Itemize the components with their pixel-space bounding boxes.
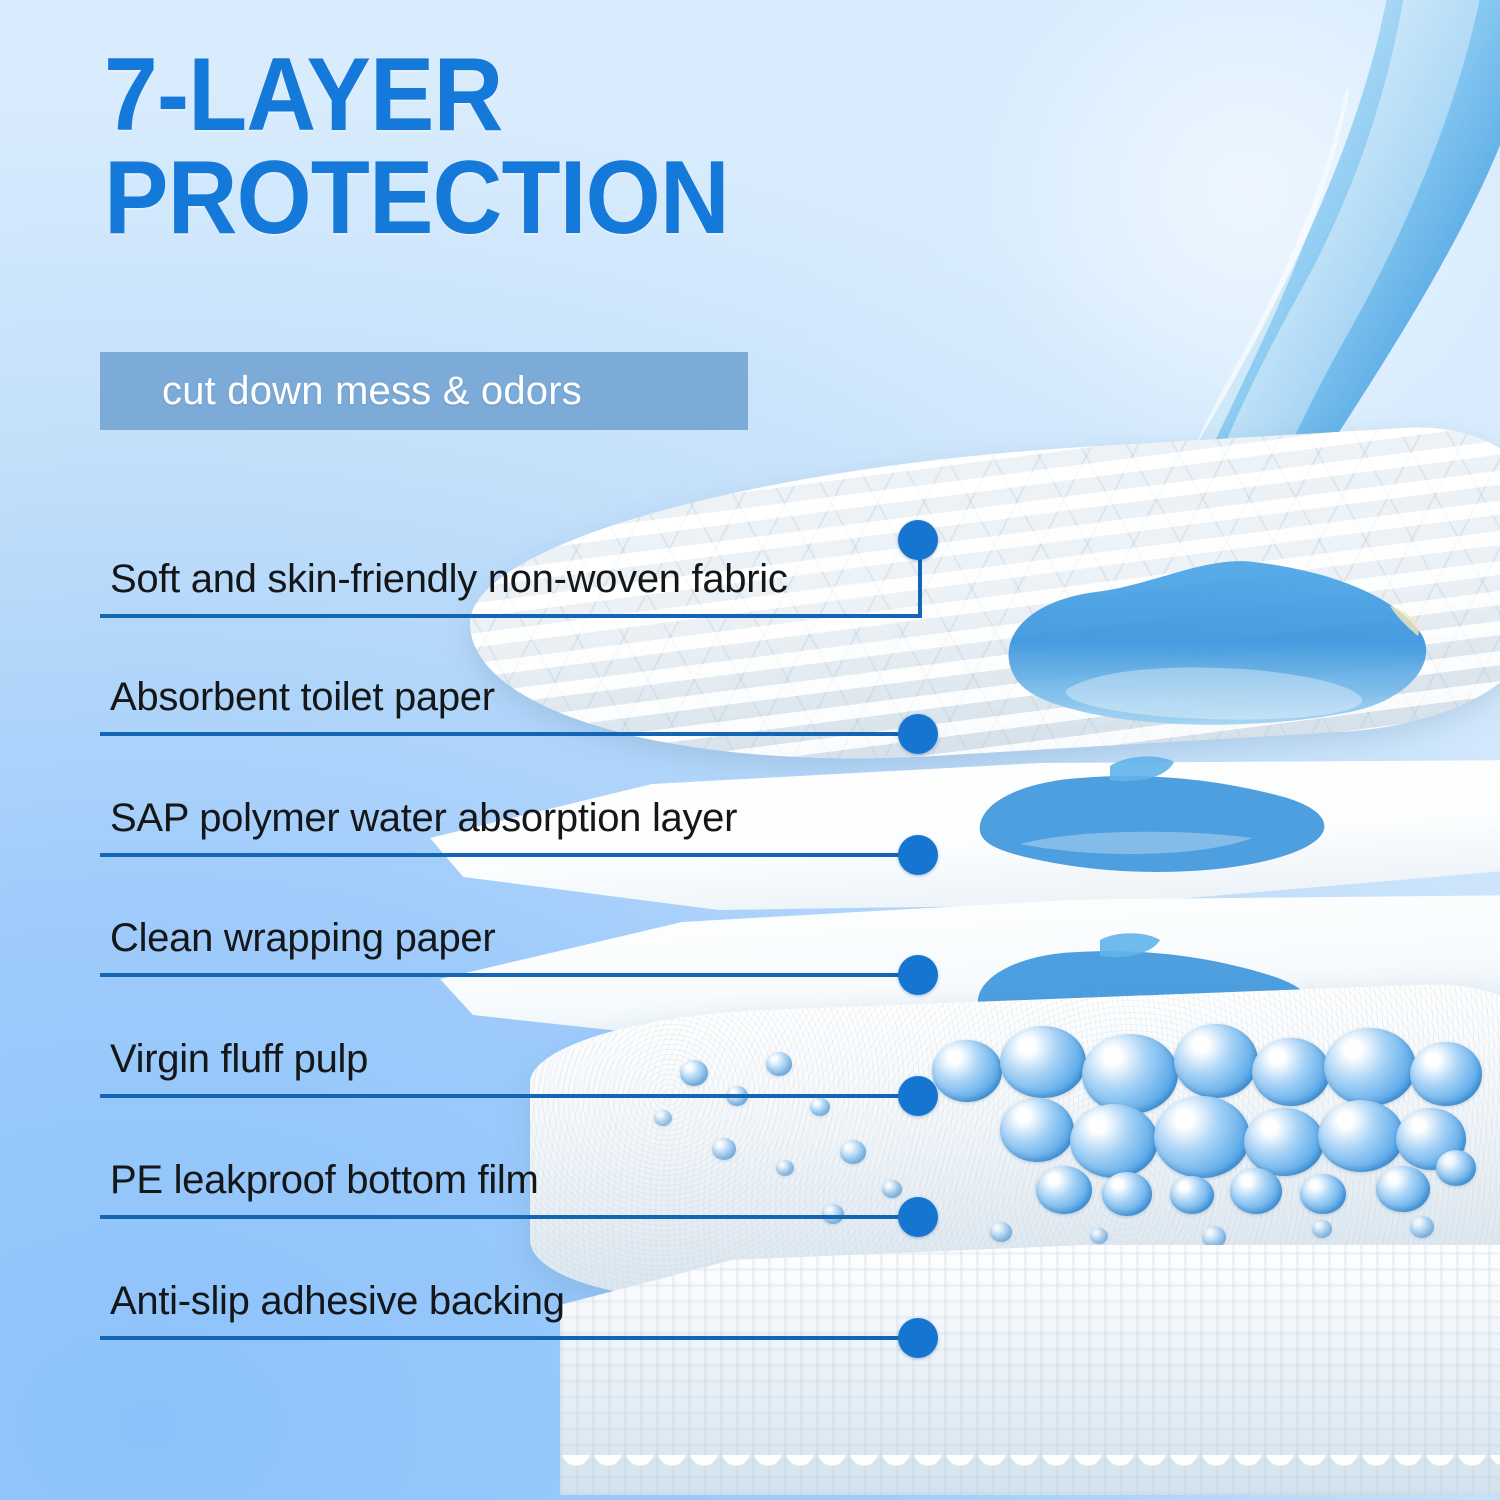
leader-line-4	[100, 973, 918, 977]
leader-dot-7	[898, 1318, 938, 1358]
layer-callout-2: Absorbent toilet paper	[0, 654, 1000, 736]
leader-line-2	[100, 732, 918, 736]
leader-line-6	[100, 1215, 918, 1219]
leader-dot-2	[898, 714, 938, 754]
layer-callout-1: Soft and skin-friendly non-woven fabric	[0, 536, 1000, 618]
leader-dot-6	[898, 1197, 938, 1237]
infographic-canvas: 7-LAYER PROTECTION cut down mess & odors…	[0, 0, 1500, 1500]
page-title: 7-LAYER PROTECTION	[104, 44, 1015, 250]
layer-label-7: Anti-slip adhesive backing	[110, 1279, 565, 1324]
layer-callout-5: Virgin fluff pulp	[0, 1016, 1000, 1098]
title-line-2: PROTECTION	[104, 147, 1015, 250]
leader-dot-5	[898, 1076, 938, 1116]
layer-label-1: Soft and skin-friendly non-woven fabric	[110, 557, 788, 602]
layer-callout-7: Anti-slip adhesive backing	[0, 1258, 1000, 1340]
layer-callout-4: Clean wrapping paper	[0, 895, 1000, 977]
leader-line-1	[100, 614, 922, 618]
leader-dot-4	[898, 955, 938, 995]
layer-label-4: Clean wrapping paper	[110, 916, 495, 961]
layer-label-5: Virgin fluff pulp	[110, 1037, 368, 1082]
leader-dot-1	[898, 520, 938, 560]
layer-callout-3: SAP polymer water absorption layer	[0, 775, 1000, 857]
water-pool-mid-upper-icon	[960, 752, 1360, 882]
layer-label-6: PE leakproof bottom film	[110, 1158, 539, 1203]
subtitle-banner: cut down mess & odors	[100, 352, 748, 430]
layer-label-2: Absorbent toilet paper	[110, 675, 495, 720]
leader-line-5	[100, 1094, 918, 1098]
layer-callout-6: PE leakproof bottom film	[0, 1137, 1000, 1219]
water-pool-top-icon	[970, 540, 1450, 750]
leader-line-7	[100, 1336, 918, 1340]
title-line-1: 7-LAYER	[104, 44, 1015, 147]
leader-line-3	[100, 853, 918, 857]
leader-dot-3	[898, 835, 938, 875]
layer-label-3: SAP polymer water absorption layer	[110, 796, 737, 841]
subtitle-text: cut down mess & odors	[100, 369, 582, 414]
